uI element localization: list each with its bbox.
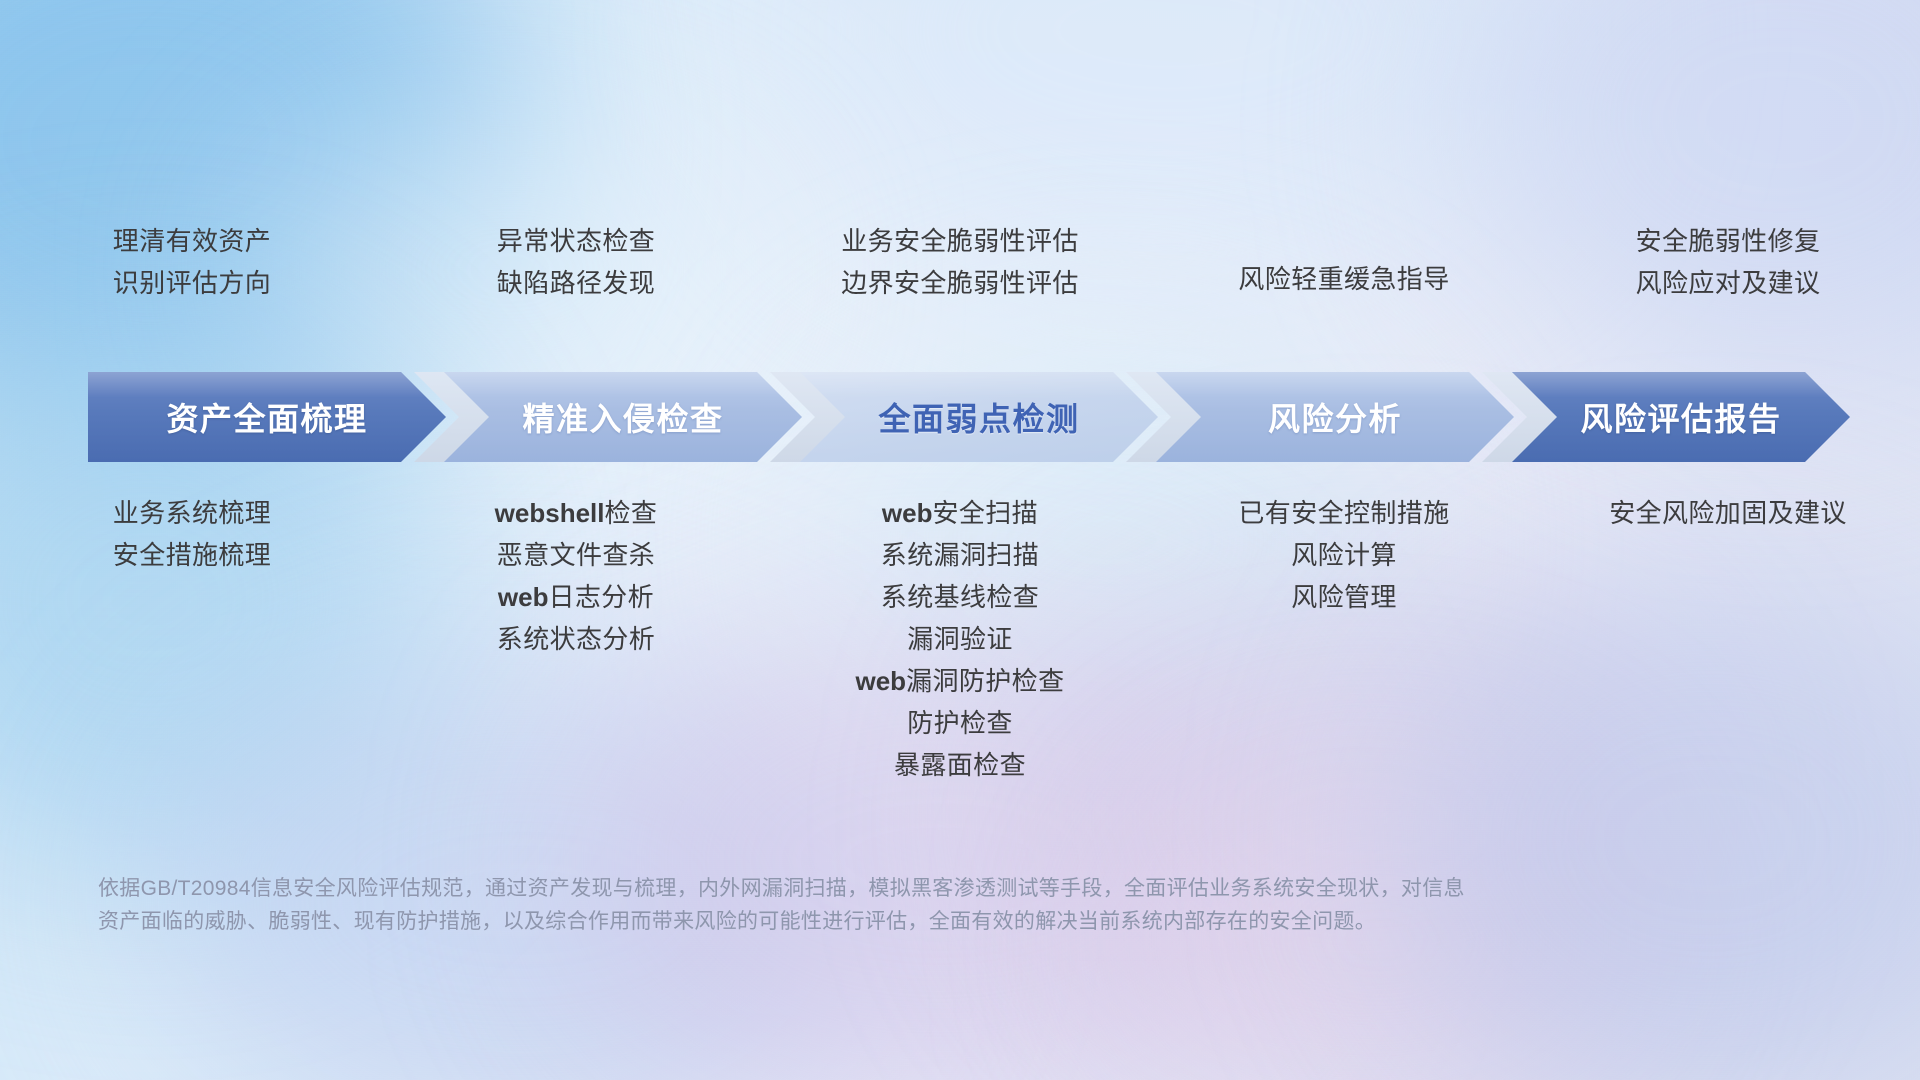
task-column-asset-inventory: 业务系统梳理安全措施梳理 (0, 500, 384, 568)
task-item-latin: webshell (495, 498, 605, 528)
process-diagram: 理清有效资产识别评估方向异常状态检查缺陷路径发现业务安全脆弱性评估边界安全脆弱性… (0, 0, 1920, 1080)
outcome-text: 风险轻重缓急指导 (1238, 266, 1449, 292)
task-item: 系统漏洞扫描 (881, 542, 1039, 568)
task-item: web漏洞防护检查 (856, 668, 1065, 694)
task-item: 已有安全控制措施 (1238, 500, 1449, 526)
task-item: 风险计算 (1291, 542, 1397, 568)
outcome-column-weakness-detection: 业务安全脆弱性评估边界安全脆弱性评估 (768, 228, 1152, 338)
task-column-weakness-detection: web安全扫描系统漏洞扫描系统基线检查漏洞验证web漏洞防护检查防护检查暴露面检… (768, 500, 1152, 778)
chevron-segment-2 (444, 372, 802, 462)
outcome-column-intrusion-check: 异常状态检查缺陷路径发现 (384, 228, 768, 338)
task-item: 暴露面检查 (894, 752, 1026, 778)
chevron-segment-4 (1156, 372, 1514, 462)
outcome-text: 识别评估方向 (113, 270, 271, 296)
outcome-text: 业务安全脆弱性评估 (841, 228, 1079, 254)
task-item: 风险管理 (1291, 584, 1397, 610)
stage-tasks-row: 业务系统梳理安全措施梳理webshell检查恶意文件查杀web日志分析系统状态分… (0, 500, 1920, 778)
chevron-band-svg (88, 372, 1850, 462)
footer-line-1: 依据GB/T20984信息安全风险评估规范，通过资产发现与梳理，内外网漏洞扫描，… (98, 872, 1698, 905)
task-column-risk-analysis: 已有安全控制措施风险计算风险管理 (1152, 500, 1536, 610)
outcome-text: 边界安全脆弱性评估 (841, 270, 1079, 296)
outcome-text: 异常状态检查 (497, 228, 655, 254)
chevron-segment-5 (1512, 372, 1850, 462)
task-column-risk-report: 安全风险加固及建议 (1536, 500, 1920, 526)
task-item-latin: web (856, 666, 907, 696)
task-item: 系统状态分析 (497, 626, 655, 652)
task-item: web安全扫描 (882, 500, 1038, 526)
chevron-segment-3 (800, 372, 1158, 462)
task-item: web日志分析 (498, 584, 654, 610)
outcome-text: 缺陷路径发现 (497, 270, 655, 296)
task-item-latin: web (498, 582, 549, 612)
task-item: 安全风险加固及建议 (1609, 500, 1847, 526)
outcome-text: 风险应对及建议 (1636, 270, 1821, 296)
stage-outcomes-row: 理清有效资产识别评估方向异常状态检查缺陷路径发现业务安全脆弱性评估边界安全脆弱性… (0, 228, 1920, 338)
outcome-column-risk-analysis: 风险轻重缓急指导 (1152, 228, 1536, 338)
footer-line-2: 资产面临的威胁、脆弱性、现有防护措施，以及综合作用而带来风险的可能性进行评估，全… (98, 905, 1698, 938)
task-item: 系统基线检查 (881, 584, 1039, 610)
task-item: 业务系统梳理 (113, 500, 271, 526)
outcome-column-asset-inventory: 理清有效资产识别评估方向 (0, 228, 384, 338)
task-item: 漏洞验证 (907, 626, 1013, 652)
task-item-latin: web (882, 498, 933, 528)
task-item: webshell检查 (495, 500, 658, 526)
task-item: 安全措施梳理 (113, 542, 271, 568)
task-column-intrusion-check: webshell检查恶意文件查杀web日志分析系统状态分析 (384, 500, 768, 652)
footer-description: 依据GB/T20984信息安全风险评估规范，通过资产发现与梳理，内外网漏洞扫描，… (98, 872, 1698, 938)
task-item: 恶意文件查杀 (497, 542, 655, 568)
task-item: 防护检查 (907, 710, 1013, 736)
outcome-text: 安全脆弱性修复 (1636, 228, 1821, 254)
outcome-text: 理清有效资产 (113, 228, 271, 254)
chevron-segment-1 (88, 372, 446, 462)
stage-chevron-band: 资产全面梳理精准入侵检查全面弱点检测风险分析风险评估报告 (88, 372, 1850, 462)
outcome-column-risk-report: 安全脆弱性修复风险应对及建议 (1536, 228, 1920, 338)
